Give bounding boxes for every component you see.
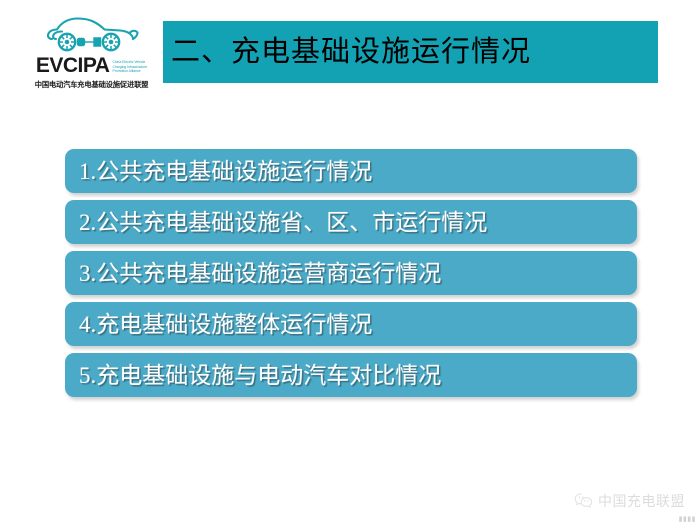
logo-chinese-name: 中国电动汽车充电基础设施促进联盟 (35, 80, 149, 90)
logo-wordmark: EVCIPA (36, 55, 110, 76)
ev-car-charging-logo-icon (36, 12, 148, 54)
evcipa-logo: EVCIPA China Electric VehicleCharging In… (24, 12, 159, 94)
slide-header: EVCIPA China Electric VehicleCharging In… (0, 0, 700, 105)
list-item-label: 2.公共充电基础设施省、区、市运行情况 (65, 211, 487, 234)
agenda-list: 1.公共充电基础设施运行情况 2.公共充电基础设施省、区、市运行情况 3.公共充… (65, 149, 637, 404)
corner-mark: ▮▮▮▮ (679, 516, 696, 523)
wechat-watermark: 中国充电联盟 (574, 492, 685, 509)
logo-wordmark-row: EVCIPA China Electric VehicleCharging In… (36, 55, 147, 76)
slide-canvas: EVCIPA China Electric VehicleCharging In… (0, 0, 700, 525)
list-item-label: 1.公共充电基础设施运行情况 (65, 160, 372, 183)
page-title: 二、充电基础设施运行情况 (163, 38, 531, 67)
list-item[interactable]: 2.公共充电基础设施省、区、市运行情况 (65, 200, 637, 244)
watermark-label: 中国充电联盟 (598, 494, 685, 508)
list-item-label: 4.充电基础设施整体运行情况 (65, 313, 372, 336)
section-title-bar: 二、充电基础设施运行情况 (163, 21, 658, 83)
list-item[interactable]: 1.公共充电基础设施运行情况 (65, 149, 637, 193)
list-item-label: 5.充电基础设施与电动汽车对比情况 (65, 364, 441, 387)
list-item[interactable]: 3.公共充电基础设施运营商运行情况 (65, 251, 637, 295)
list-item-label: 3.公共充电基础设施运营商运行情况 (65, 262, 441, 285)
list-item[interactable]: 4.充电基础设施整体运行情况 (65, 302, 637, 346)
wechat-icon (574, 492, 593, 509)
logo-english-name: China Electric VehicleCharging Infrastru… (112, 60, 147, 76)
list-item[interactable]: 5.充电基础设施与电动汽车对比情况 (65, 353, 637, 397)
